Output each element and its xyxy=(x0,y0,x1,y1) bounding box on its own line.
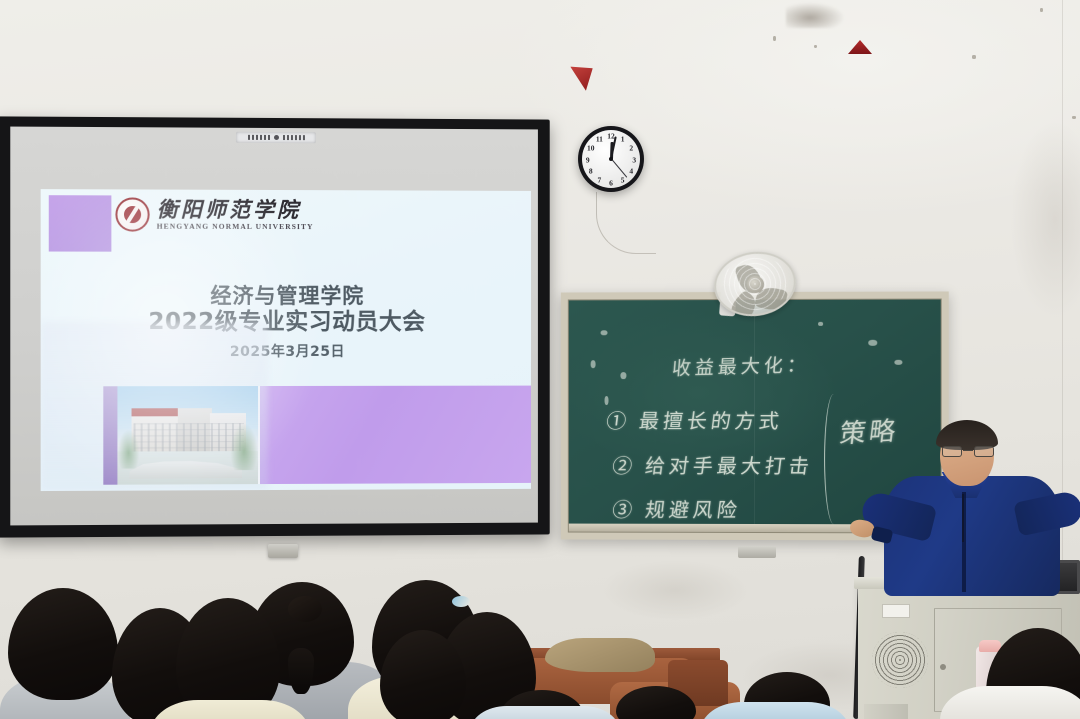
logo-text-group: 衡阳师范学院 HENGYANG NORMAL UNIVERSITY xyxy=(157,199,314,232)
student-scrunchie-1 xyxy=(452,596,470,607)
wall-speck-1 xyxy=(773,36,776,41)
lectern-door-knob[interactable] xyxy=(940,664,946,670)
photo-tree-right xyxy=(230,423,258,470)
wall-outlet-box-right xyxy=(738,546,776,558)
presenter xyxy=(866,424,1076,600)
slide-title-line1: 经济与管理学院 xyxy=(41,284,531,309)
clock-numeral-4: 4 xyxy=(629,167,633,176)
student-shoulders-blue xyxy=(700,702,850,719)
sensor-dots-left xyxy=(247,135,269,140)
wall-speck-2 xyxy=(814,45,817,48)
photo-tree-left xyxy=(117,430,139,469)
classroom-scene: 衡阳师范学院 HENGYANG NORMAL UNIVERSITY 经济与管理学… xyxy=(0,0,1080,719)
slide-date: 2025年3月25日 xyxy=(41,341,531,361)
clock-numeral-9: 9 xyxy=(586,155,590,164)
lectern-asset-label xyxy=(882,604,910,618)
student-shoulders-white xyxy=(940,686,1080,719)
blackboard-item-3: ③ 规避风险 xyxy=(611,494,743,523)
campus-building-photo xyxy=(117,386,258,485)
wall-fan xyxy=(710,247,800,322)
blackboard-heading: 收益最大化： xyxy=(671,350,811,381)
lapel-microphone-cable xyxy=(962,494,964,542)
clock-center-pin xyxy=(609,157,613,161)
wall-outlet-box-left xyxy=(268,544,298,558)
slide-title-line2: 2022级专业实习动员大会 xyxy=(41,309,531,336)
glasses-bridge xyxy=(963,450,973,451)
clock-numeral-3: 3 xyxy=(632,155,636,164)
student-hair-bun-1 xyxy=(288,596,322,622)
lectern-leg xyxy=(864,704,908,719)
university-logo: 衡阳师范学院 HENGYANG NORMAL UNIVERSITY xyxy=(115,197,313,232)
presenter-glasses-icon xyxy=(942,446,994,457)
slide-title-group: 经济与管理学院 2022级专业实习动员大会 2025年3月25日 xyxy=(41,284,531,361)
clock-numeral-8: 8 xyxy=(589,167,593,176)
blackboard-brace xyxy=(824,394,840,524)
photo-windows xyxy=(134,423,244,451)
slide-accent-block xyxy=(49,195,112,251)
wall-speck-5 xyxy=(1072,116,1076,119)
university-seal-icon xyxy=(115,197,149,231)
khaki-jacket xyxy=(545,638,655,672)
slide-purple-panel xyxy=(258,386,531,484)
blackboard-item-2: ② 给对手最大打击 xyxy=(611,450,815,479)
student-shoulders-lightblue xyxy=(470,706,620,719)
screen-inner-panel: 衡阳师范学院 HENGYANG NORMAL UNIVERSITY 经济与管理学… xyxy=(10,127,538,526)
clock-numeral-11: 11 xyxy=(596,135,603,144)
clock-numeral-7: 7 xyxy=(598,175,602,184)
projection-screen[interactable]: 衡阳师范学院 HENGYANG NORMAL UNIVERSITY 经济与管理学… xyxy=(0,116,550,537)
slide-footer-band xyxy=(103,386,531,485)
photo-accent-edge xyxy=(103,386,117,484)
logo-chinese-name: 衡阳师范学院 xyxy=(157,199,314,222)
logo-english-name: HENGYANG NORMAL UNIVERSITY xyxy=(157,222,314,231)
wall-clock: 12 1 2 3 4 5 6 7 8 9 10 11 xyxy=(578,126,644,192)
wall-speck-4 xyxy=(1040,8,1043,12)
clock-numeral-10: 10 xyxy=(587,143,595,152)
clock-numeral-5: 5 xyxy=(621,175,625,184)
clock-numeral-2: 2 xyxy=(629,143,633,152)
clock-numeral-6: 6 xyxy=(609,178,613,187)
ir-sensor-strip-icon xyxy=(236,132,316,143)
lectern-speaker-grille xyxy=(872,632,928,688)
clock-face: 12 1 2 3 4 5 6 7 8 9 10 11 xyxy=(582,130,640,188)
wall-speck-3 xyxy=(972,55,976,59)
dust-wisp xyxy=(786,2,846,28)
sensor-dots-right xyxy=(282,135,304,140)
presentation-slide[interactable]: 衡阳师范学院 HENGYANG NORMAL UNIVERSITY 经济与管理学… xyxy=(41,189,531,491)
glasses-lens-left xyxy=(942,446,962,457)
blackboard-item-1: ① 最擅长的方式 xyxy=(605,405,785,434)
sensor-eye-icon xyxy=(274,135,279,140)
clock-numeral-1: 1 xyxy=(621,135,625,144)
clock-second-hand xyxy=(611,159,627,178)
glasses-lens-right xyxy=(974,446,994,457)
